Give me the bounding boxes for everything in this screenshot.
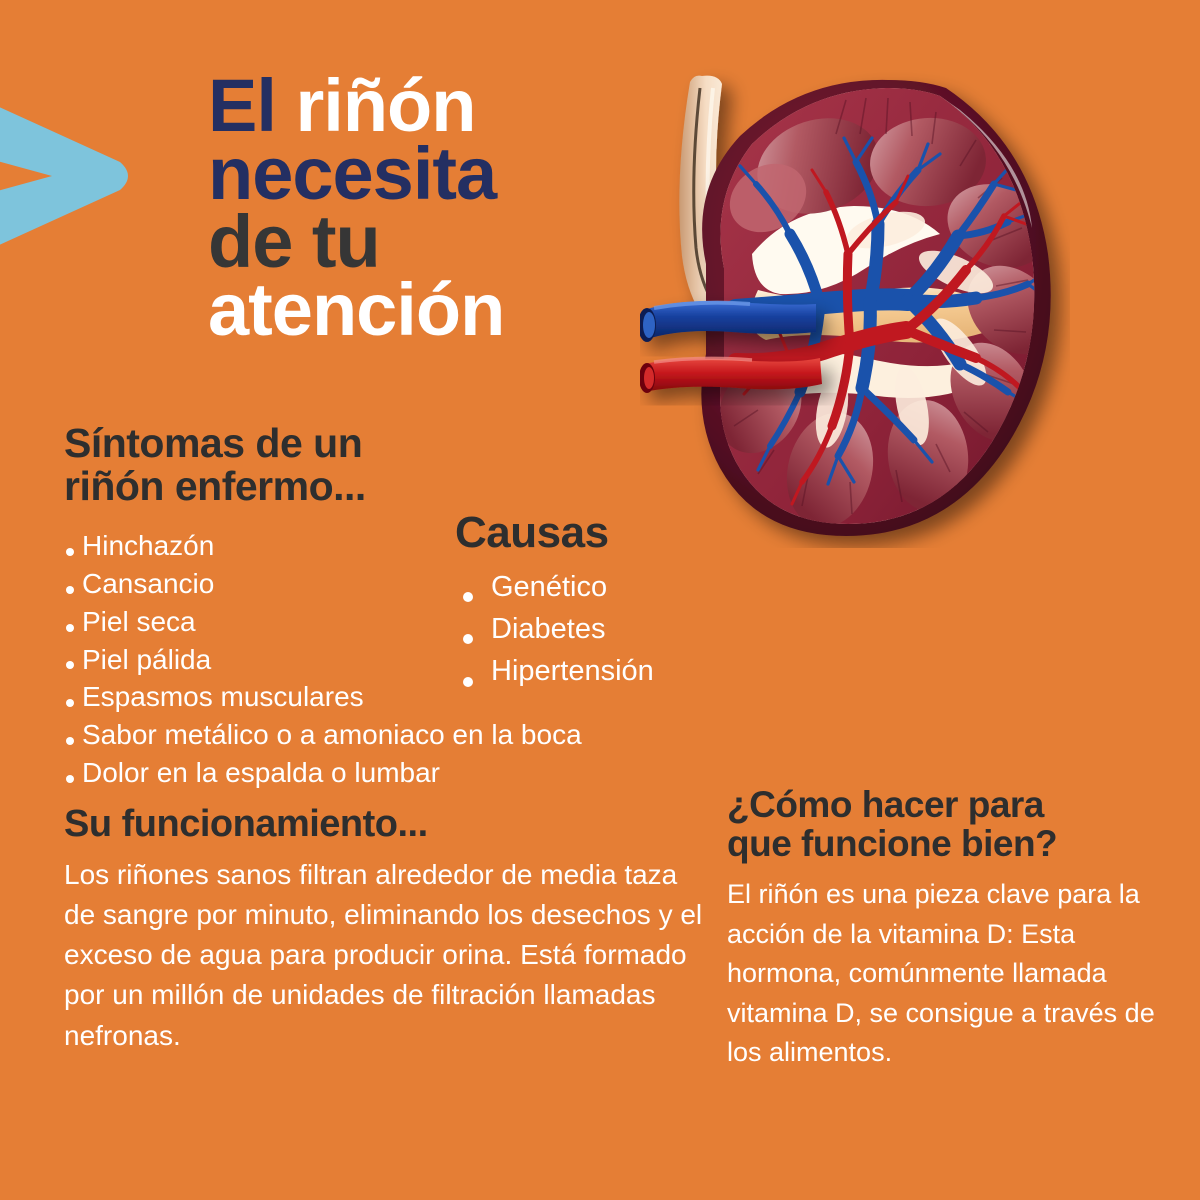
list-item: Genético xyxy=(455,566,755,608)
title-line-2: necesita xyxy=(208,140,668,208)
list-item: Dolor en la espalda o lumbar xyxy=(64,754,724,792)
functioning-heading: Su funcionamiento... xyxy=(64,805,704,845)
howto-heading-line-1: ¿Cómo hacer para xyxy=(727,784,1044,825)
bullet-dot-icon xyxy=(463,677,473,687)
list-item-label: Sabor metálico o a amoniaco en la boca xyxy=(82,719,582,750)
bullet-dot-icon xyxy=(66,737,74,745)
functioning-section: Su funcionamiento... Los riñones sanos f… xyxy=(64,805,704,1056)
page-title: El riñón necesita de tu atención xyxy=(208,72,668,344)
symptoms-heading-line-2: riñón enfermo... xyxy=(64,463,366,509)
infographic-canvas: El riñón necesita de tu atención xyxy=(0,0,1200,1200)
bullet-dot-icon xyxy=(66,586,74,594)
causes-list: Genético Diabetes Hipertensión xyxy=(455,566,755,693)
causes-section: Causas Genético Diabetes Hipertensión xyxy=(455,510,755,693)
symptoms-heading-line-1: Síntomas de un xyxy=(64,420,362,466)
chevron-right-icon xyxy=(0,88,138,264)
list-item: Diabetes xyxy=(455,608,755,650)
howto-body: El riñón es una pieza clave para la acci… xyxy=(727,875,1157,1072)
list-item: Sabor metálico o a amoniaco en la boca xyxy=(64,716,724,754)
list-item-label: Dolor en la espalda o lumbar xyxy=(82,757,440,788)
symptoms-heading: Síntomas de un riñón enfermo... xyxy=(64,422,724,507)
list-item-label: Hipertensión xyxy=(491,655,654,687)
list-item-label: Espasmos musculares xyxy=(82,681,364,712)
bullet-dot-icon xyxy=(66,548,74,556)
title-line-4: atención xyxy=(208,276,668,344)
title-line-1: El riñón xyxy=(208,72,668,140)
title-line-3: de tu xyxy=(208,208,668,276)
list-item-label: Hinchazón xyxy=(82,530,214,561)
howto-heading-line-2: que funcione bien? xyxy=(727,823,1057,864)
bullet-dot-icon xyxy=(66,661,74,669)
howto-heading: ¿Cómo hacer para que funcione bien? xyxy=(727,785,1157,863)
bullet-dot-icon xyxy=(66,775,74,783)
bullet-dot-icon xyxy=(463,634,473,644)
bullet-dot-icon xyxy=(463,592,473,602)
functioning-body: Los riñones sanos filtran alrededor de m… xyxy=(64,855,704,1057)
list-item-label: Piel pálida xyxy=(82,644,211,675)
bullet-dot-icon xyxy=(66,699,74,707)
list-item: Hipertensión xyxy=(455,650,755,692)
bullet-dot-icon xyxy=(66,624,74,632)
list-item-label: Cansancio xyxy=(82,568,214,599)
causes-heading: Causas xyxy=(455,510,755,556)
list-item-label: Diabetes xyxy=(491,613,605,645)
howto-section: ¿Cómo hacer para que funcione bien? El r… xyxy=(727,785,1157,1072)
list-item-label: Piel seca xyxy=(82,606,196,637)
list-item-label: Genético xyxy=(491,571,607,603)
